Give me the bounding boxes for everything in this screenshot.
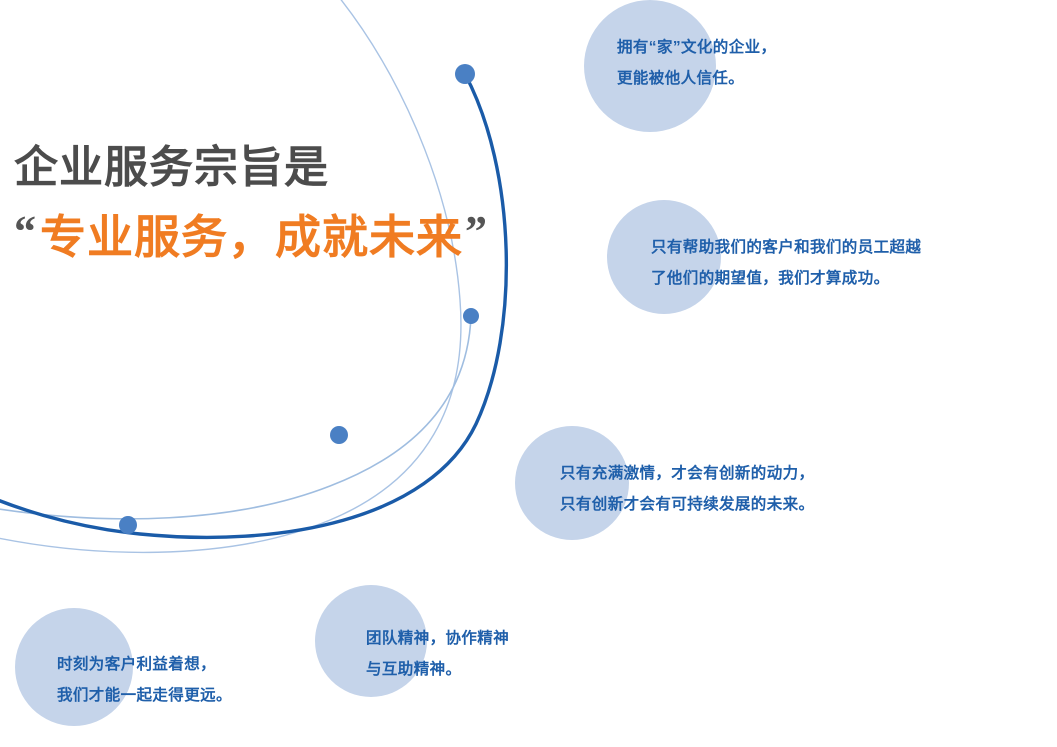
slide-canvas: 企业服务宗旨是 “ 专业服务，成就未来 ” 拥有“家”文化的企业， 更能被他人信… [0, 0, 1057, 747]
slogan-text: 专业服务，成就未来 [40, 210, 463, 266]
dot-bottom-icon [119, 516, 137, 534]
bubble-line: 时刻为客户利益着想， [57, 649, 232, 680]
bubble-line: 团队精神，协作精神 [366, 623, 509, 654]
bubble-line: 只有充满激情，才会有创新的动力， [560, 458, 814, 489]
arc-light-outer [0, 0, 461, 552]
bubble-exceed-expectations-text: 只有帮助我们的客户和我们的员工超越 了他们的期望值，我们才算成功。 [651, 232, 921, 294]
arc-light-inner [0, 316, 471, 519]
bubble-line: 只有创新才会有可持续发展的未来。 [560, 489, 814, 520]
quote-close-icon: ” [465, 210, 487, 254]
title-block: 企业服务宗旨是 “ 专业服务，成就未来 ” [14, 140, 474, 266]
dot-middle-icon [463, 308, 479, 324]
bubble-line: 我们才能一起走得更远。 [57, 680, 232, 711]
bubble-line: 与互助精神。 [366, 654, 509, 685]
quote-open-icon: “ [14, 210, 36, 254]
dot-top-icon [455, 64, 475, 84]
bubble-line: 了他们的期望值，我们才算成功。 [651, 263, 921, 294]
bubble-line: 拥有“家”文化的企业， [617, 32, 776, 63]
page-title: 企业服务宗旨是 [14, 140, 474, 196]
bubble-team-spirit-text: 团队精神，协作精神 与互助精神。 [366, 623, 509, 685]
bubble-line: 更能被他人信任。 [617, 63, 776, 94]
bubble-line: 只有帮助我们的客户和我们的员工超越 [651, 232, 921, 263]
slogan-row: “ 专业服务，成就未来 ” [14, 210, 474, 266]
decorative-arc-group [0, 0, 1057, 747]
bubble-customer-interest-text: 时刻为客户利益着想， 我们才能一起走得更远。 [57, 649, 232, 711]
dot-lower-icon [330, 426, 348, 444]
bubble-passion-innovation-text: 只有充满激情，才会有创新的动力， 只有创新才会有可持续发展的未来。 [560, 458, 814, 520]
bubble-family-culture-text: 拥有“家”文化的企业， 更能被他人信任。 [617, 32, 776, 94]
